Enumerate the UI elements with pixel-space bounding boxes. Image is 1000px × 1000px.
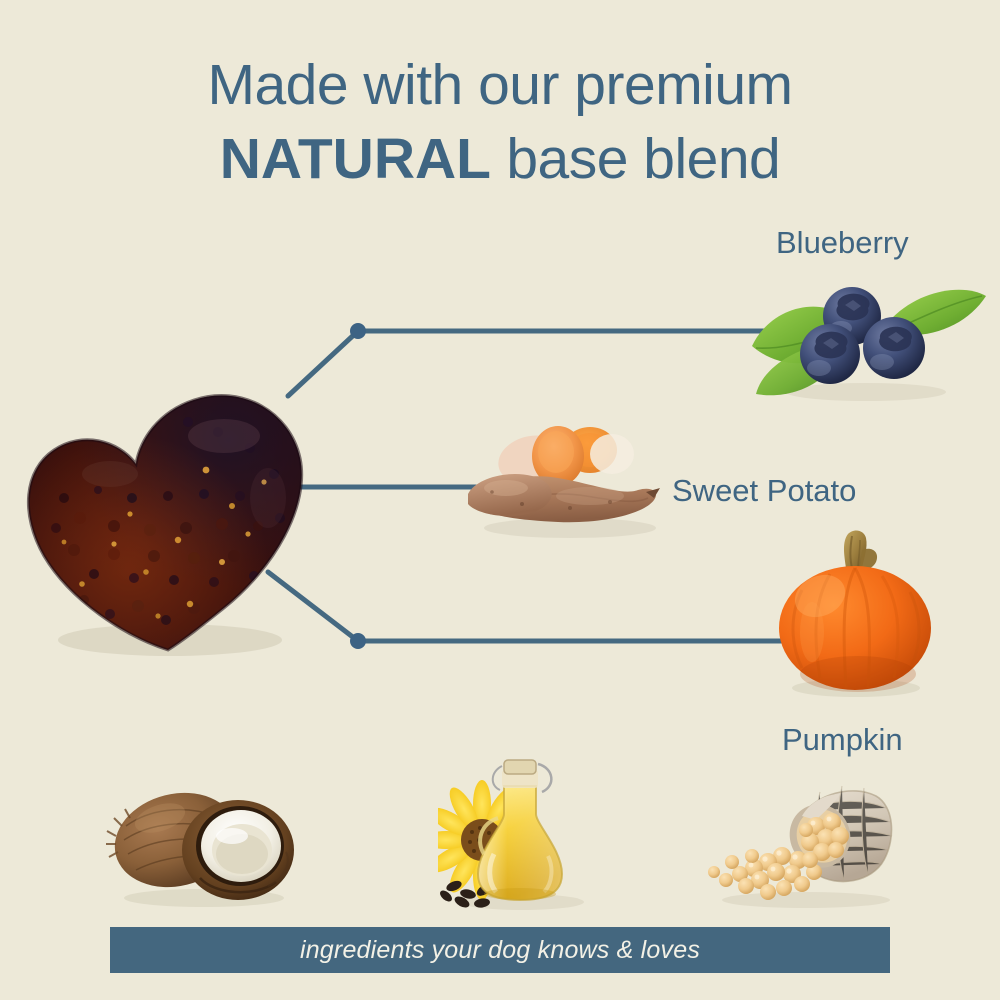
- connector-pumpkin: [268, 572, 806, 641]
- headline-emphasis: NATURAL: [220, 127, 491, 191]
- heart-shaped-dog-treat-image: [18, 378, 310, 660]
- product-infographic: Made with our premium NATURAL base blend: [0, 0, 1000, 1000]
- headline-line-2-rest: base blend: [491, 127, 780, 191]
- ingredient-label-pumpkin: Pumpkin: [782, 722, 903, 758]
- headline-line-1: Made with our premium: [0, 48, 1000, 122]
- connector-dot-pumpkin: [350, 633, 366, 649]
- tagline-text: ingredients your dog knows & loves: [300, 936, 700, 965]
- ingredient-label-sweet-potato: Sweet Potato: [672, 473, 856, 509]
- coconut-image: [104, 782, 300, 908]
- sweet-potato-image: [462, 412, 676, 542]
- connector-blueberry: [288, 331, 792, 396]
- tagline-banner: ingredients your dog knows & loves: [110, 927, 890, 973]
- page-title: Made with our premium NATURAL base blend: [0, 48, 1000, 196]
- connector-dot-blueberry: [350, 323, 366, 339]
- chickpea-sack-image: [706, 776, 898, 910]
- headline-line-2: NATURAL base blend: [0, 122, 1000, 196]
- sunflower-oil-bottle-image: [438, 758, 598, 912]
- blueberry-cluster-image: [742, 272, 990, 404]
- pumpkin-image: [772, 528, 938, 700]
- ingredient-label-blueberry: Blueberry: [776, 225, 909, 261]
